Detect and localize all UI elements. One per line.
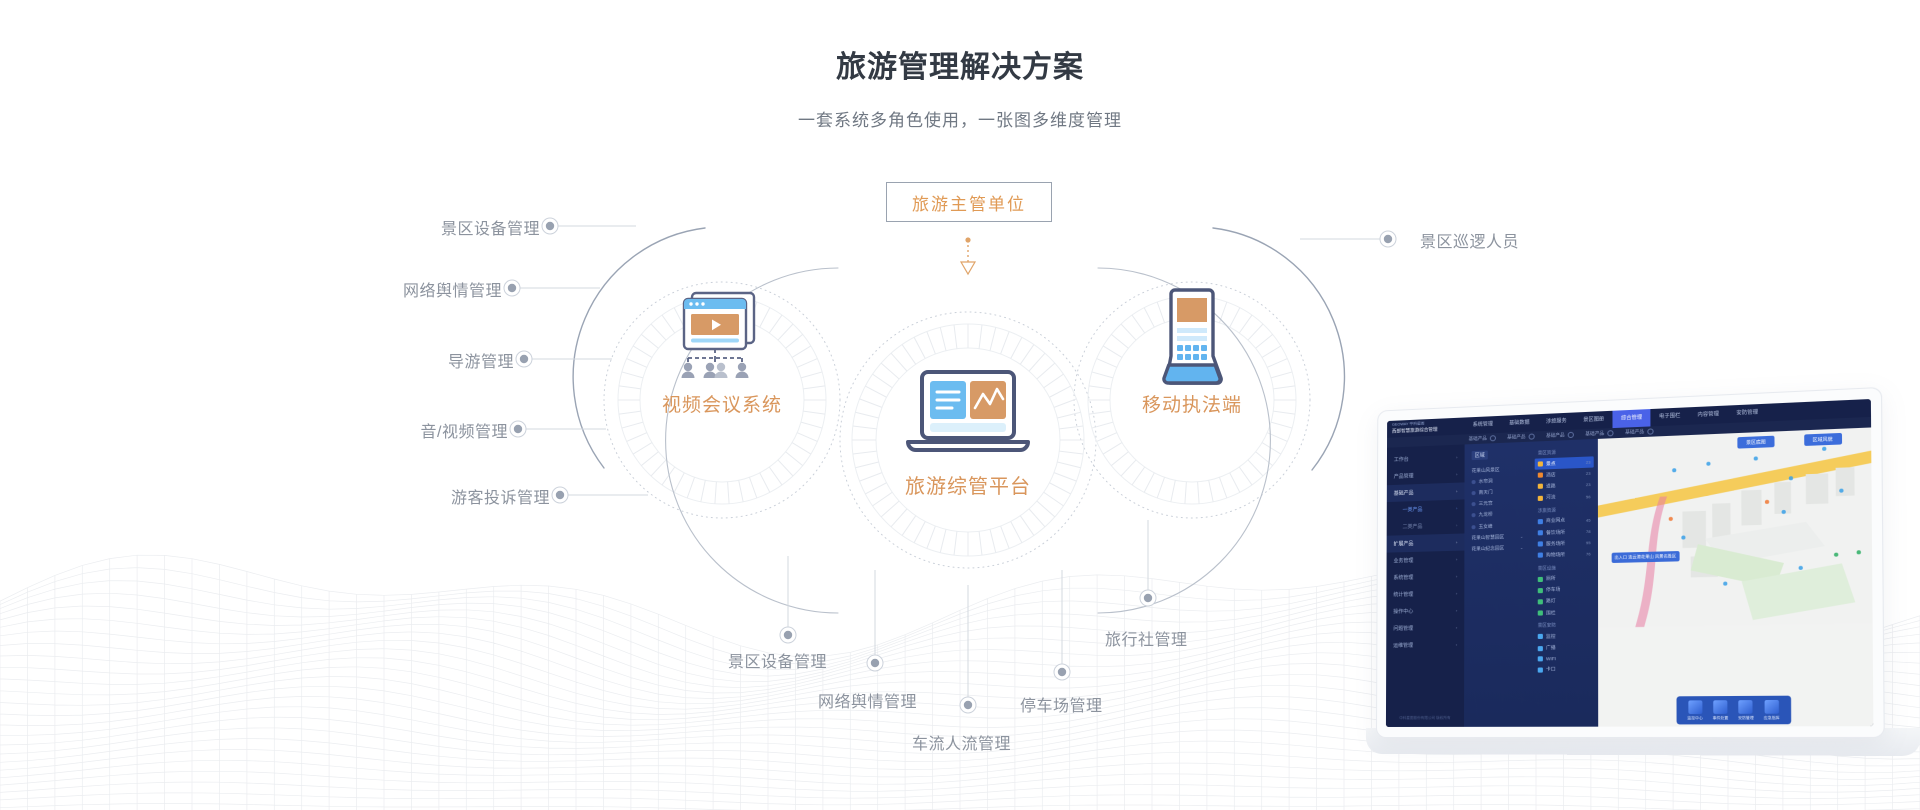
region-column-header: 区域 bbox=[1469, 447, 1527, 462]
sidebar-item[interactable]: 问题管理› bbox=[1386, 619, 1464, 637]
resource-group-title: 景区安防 bbox=[1535, 618, 1594, 631]
connector-dot bbox=[508, 284, 516, 292]
node-caption-video-conference: 视频会议系统 bbox=[652, 390, 792, 417]
connector-dot bbox=[784, 631, 792, 639]
connector-dots bbox=[504, 218, 1396, 713]
video-conference-icon bbox=[672, 290, 772, 380]
authority-badge: 旅游主管单位 bbox=[886, 182, 1052, 222]
resource-row[interactable]: 广播 bbox=[1535, 642, 1594, 654]
connector-dot bbox=[546, 222, 554, 230]
sidebar-item[interactable]: 系统管理› bbox=[1386, 568, 1464, 587]
connector-dot bbox=[1058, 668, 1066, 676]
left-label-4: 游客投诉管理 bbox=[270, 484, 550, 508]
dashboard-filter-chip[interactable]: 基础产品 bbox=[1585, 430, 1613, 437]
dashboard-nav-item[interactable]: 内容管理 bbox=[1689, 406, 1728, 425]
sidebar-item[interactable]: 业务管理› bbox=[1387, 551, 1465, 570]
dashboard-nav-item[interactable]: 景区图册 bbox=[1575, 411, 1613, 430]
dashboard-nav-item[interactable]: 系统管理 bbox=[1465, 416, 1501, 435]
sidebar-item[interactable]: 运维管理› bbox=[1386, 636, 1464, 654]
map-canvas bbox=[1598, 427, 1873, 627]
map-dock-icon bbox=[1739, 700, 1753, 714]
map-dock-item[interactable]: 应急指挥 bbox=[1764, 700, 1780, 721]
connector-dot bbox=[871, 659, 879, 667]
sidebar-footer: 中科星图股份有限公司 版权所有 bbox=[1386, 711, 1464, 727]
sidebar-item[interactable]: 操作中心› bbox=[1386, 602, 1464, 620]
dashboard-nav-item[interactable]: 涉旅服务 bbox=[1538, 412, 1575, 431]
laptop-lid: GEOWAY 中科星图西部智慧旅游综合管理 系统管理基础数据涉旅服务景区图册综合… bbox=[1376, 387, 1885, 738]
resource-row[interactable]: 卡口 bbox=[1535, 664, 1594, 676]
region-row[interactable]: 花果山纪念园区⌄ bbox=[1468, 542, 1526, 555]
map-button-region[interactable]: 区域风貌 bbox=[1804, 433, 1842, 446]
node-caption-mobile-enforcement: 移动执法端 bbox=[1122, 390, 1262, 417]
map-dock-icon bbox=[1688, 700, 1702, 714]
right-label-0: 景区巡逻人员 bbox=[1420, 228, 1519, 252]
bottom-label-2: 车流人流管理 bbox=[912, 730, 1011, 754]
bottom-label-3: 停车场管理 bbox=[1020, 692, 1103, 716]
connector-dot bbox=[1144, 594, 1152, 602]
resource-row[interactable]: 围栏 bbox=[1535, 606, 1594, 618]
left-connectors bbox=[512, 226, 648, 495]
region-column[interactable]: 区域 花果山风景区水帘洞南天门三元宫九龙桥玉女峰花果山智慧园区⌄花果山纪念园区⌄ bbox=[1464, 442, 1531, 727]
connector-dot bbox=[556, 491, 564, 499]
bottom-label-4: 旅行社管理 bbox=[1105, 626, 1188, 650]
resource-row[interactable]: WIFI bbox=[1535, 653, 1594, 664]
dashboard-nav-item[interactable]: 综合管理 bbox=[1613, 409, 1651, 428]
accent-arc-right bbox=[1213, 228, 1344, 470]
authority-badge-label: 旅游主管单位 bbox=[886, 182, 1052, 222]
map-dock-item[interactable]: 监控中心 bbox=[1687, 700, 1703, 721]
dashboard-nav-item[interactable]: 安防管理 bbox=[1728, 404, 1767, 423]
dashboard-nav-item[interactable]: 基础数据 bbox=[1501, 414, 1538, 433]
dashboard-body: 工作台›产品管理›基础产品›一类产品›二类产品›扩展产品›业务管理›系统管理›统… bbox=[1386, 427, 1873, 727]
map-dock-icon bbox=[1713, 700, 1727, 714]
badge-arrow bbox=[961, 237, 975, 274]
map-dock-icon bbox=[1764, 700, 1778, 714]
bottom-label-1: 网络舆情管理 bbox=[818, 688, 917, 712]
connector-dot bbox=[964, 701, 972, 709]
sidebar-item[interactable]: 扩展产品› bbox=[1387, 533, 1465, 552]
connector-dot bbox=[514, 425, 522, 433]
map-dock-item[interactable]: 安防管理 bbox=[1738, 700, 1754, 721]
map-tooltip: 出入口 连云港花果山 风景名胜区 bbox=[1611, 551, 1679, 562]
map-dock-item[interactable]: 事件处置 bbox=[1713, 700, 1729, 721]
connector-dot bbox=[1384, 235, 1392, 243]
dashboard-nav-item[interactable]: 电子围栏 bbox=[1650, 407, 1688, 426]
dashboard-map[interactable]: 景区底图 区域风貌 出入口 连云港花果山 风景名胜区 监控中心事件处置安防管理应… bbox=[1598, 427, 1874, 726]
tourism-platform-icon bbox=[900, 368, 1036, 460]
dashboard-filter-chip[interactable]: 基础产品 bbox=[1546, 432, 1574, 439]
left-label-3: 音/视频管理 bbox=[228, 418, 508, 442]
map-dock[interactable]: 监控中心事件处置安防管理应急指挥 bbox=[1677, 696, 1791, 725]
sidebar-item[interactable]: 统计管理› bbox=[1386, 585, 1464, 604]
dashboard-filter-chip[interactable]: 基础产品 bbox=[1625, 428, 1654, 435]
node-caption-tourism-platform: 旅游综管平台 bbox=[888, 470, 1048, 499]
resource-row[interactable]: 监控 bbox=[1535, 630, 1594, 642]
left-label-2: 导游管理 bbox=[234, 348, 514, 372]
map-button-basemap[interactable]: 景区底图 bbox=[1737, 436, 1774, 449]
resource-column[interactable]: 景区资源景点23酒店23道路23河流56涉旅资源商业网点45餐饮场所78服务场所… bbox=[1530, 439, 1598, 727]
dashboard-screen: GEOWAY 中科星图西部智慧旅游综合管理 系统管理基础数据涉旅服务景区图册综合… bbox=[1386, 399, 1873, 727]
mobile-enforcement-icon bbox=[1155, 288, 1229, 386]
bottom-label-0: 景区设备管理 bbox=[728, 648, 827, 672]
dashboard-filter-chip[interactable]: 基础产品 bbox=[1507, 433, 1535, 440]
left-label-0: 景区设备管理 bbox=[260, 215, 540, 239]
product-screenshot-laptop: GEOWAY 中科星图西部智慧旅游综合管理 系统管理基础数据涉旅服务景区图册综合… bbox=[1360, 408, 1920, 788]
left-label-1: 网络舆情管理 bbox=[222, 277, 502, 301]
dashboard-sidebar[interactable]: 工作台›产品管理›基础产品›一类产品›二类产品›扩展产品›业务管理›系统管理›统… bbox=[1386, 444, 1465, 727]
connector-dot bbox=[520, 355, 528, 363]
dashboard-filter-chip[interactable]: 基础产品 bbox=[1469, 435, 1496, 442]
dashboard-filter-panel[interactable]: 区域 花果山风景区水帘洞南天门三元宫九龙桥玉女峰花果山智慧园区⌄花果山纪念园区⌄… bbox=[1464, 439, 1598, 727]
